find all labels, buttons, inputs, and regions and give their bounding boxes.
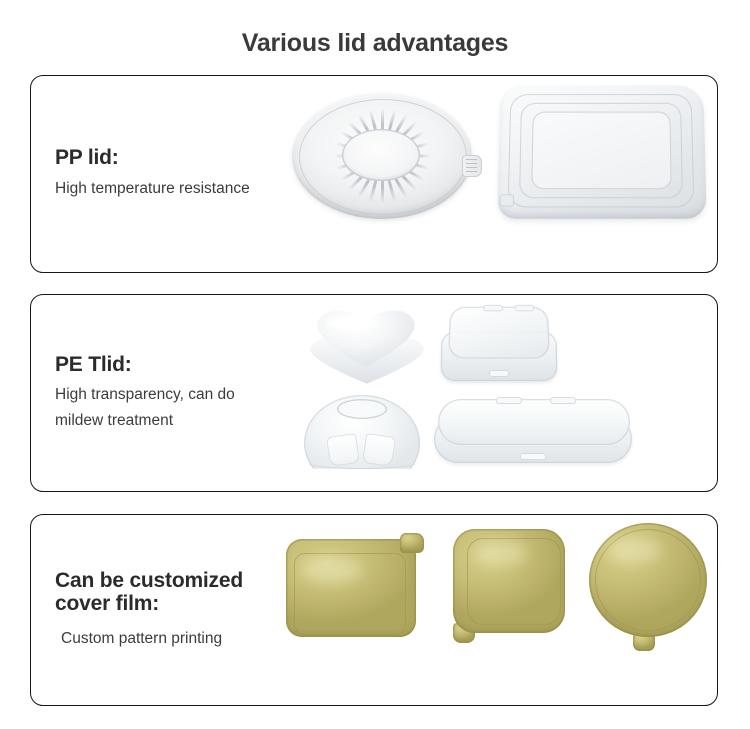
pe-lid-description: High transparency, can do mildew treatme…: [55, 382, 286, 432]
rect-lid-ridge-inner: [531, 111, 671, 189]
panel-pe-lid: PE Tlid: High transparency, can do milde…: [30, 294, 718, 492]
pe-lid-text-block: PE Tlid: High transparency, can do milde…: [31, 353, 286, 433]
gold-round-film-highlight: [607, 537, 661, 563]
heart-pe-lid-image: [304, 309, 432, 387]
gold-square-cover-film-image: [449, 529, 575, 647]
oval-pe-lid-notch: [550, 397, 576, 404]
heart-pe-lid-highlight: [326, 315, 380, 331]
dome-cup-pe-lid-straw-hole: [337, 399, 387, 419]
round-pp-lid-pull-tab: [462, 155, 482, 177]
gold-rect-film-tab: [400, 533, 424, 553]
cover-film-text-block: Can be customized cover film: Custom pat…: [31, 569, 286, 651]
square-pe-lid-notch: [483, 305, 503, 311]
pe-lid-description-line1: High transparency, can do: [55, 382, 286, 407]
pp-lid-description: High temperature resistance: [55, 176, 286, 201]
pp-lid-images: [286, 76, 717, 272]
rectangular-pp-lid-image: [499, 84, 709, 222]
panel-cover-film: Can be customized cover film: Custom pat…: [30, 514, 718, 706]
dome-cup-pe-lid-image: [304, 395, 422, 469]
page-title: Various lid advantages: [0, 17, 750, 58]
cover-film-heading: Can be customized cover film:: [55, 569, 286, 616]
round-pp-lid-image: [292, 93, 478, 221]
gold-square-film-highlight: [475, 541, 527, 565]
gold-rectangular-cover-film-image: [286, 533, 426, 639]
gold-rect-film-plate: [286, 539, 416, 637]
oval-pe-lid-notch: [520, 453, 546, 460]
square-pe-lid-notch: [515, 305, 535, 311]
cover-film-description: Custom pattern printing: [55, 626, 286, 651]
cover-film-images: [286, 515, 717, 705]
gold-square-film-plate: [453, 529, 565, 633]
panel-pp-lid: PP lid: High temperature resistance: [30, 75, 718, 273]
pp-lid-heading: PP lid:: [55, 146, 286, 170]
square-pe-lid-top: [448, 306, 551, 358]
rectangular-pp-lid-body: [497, 85, 706, 218]
round-pp-lid-hub: [342, 129, 420, 181]
gold-round-film-plate: [589, 523, 707, 637]
cover-film-heading-line2: cover film:: [55, 592, 159, 615]
dome-cup-pe-lid-rim: [306, 456, 418, 469]
oval-pe-lid-top: [438, 399, 630, 445]
pe-lid-images: [286, 295, 717, 491]
pp-lid-text-block: PP lid: High temperature resistance: [31, 146, 286, 201]
gold-rect-film-highlight: [302, 557, 362, 583]
oval-pe-lid-notch: [496, 397, 522, 404]
gold-round-cover-film-image: [589, 523, 718, 649]
pe-lid-heading: PE Tlid:: [55, 353, 286, 377]
square-pe-lid-notch: [489, 370, 509, 377]
pe-lid-description-line2: mildew treatment: [55, 408, 286, 433]
oval-pe-lid-image: [434, 399, 634, 469]
rect-lid-corner-nub: [500, 194, 514, 206]
cover-film-heading-line1: Can be customized: [55, 569, 243, 592]
square-pe-lid-image: [441, 305, 559, 385]
